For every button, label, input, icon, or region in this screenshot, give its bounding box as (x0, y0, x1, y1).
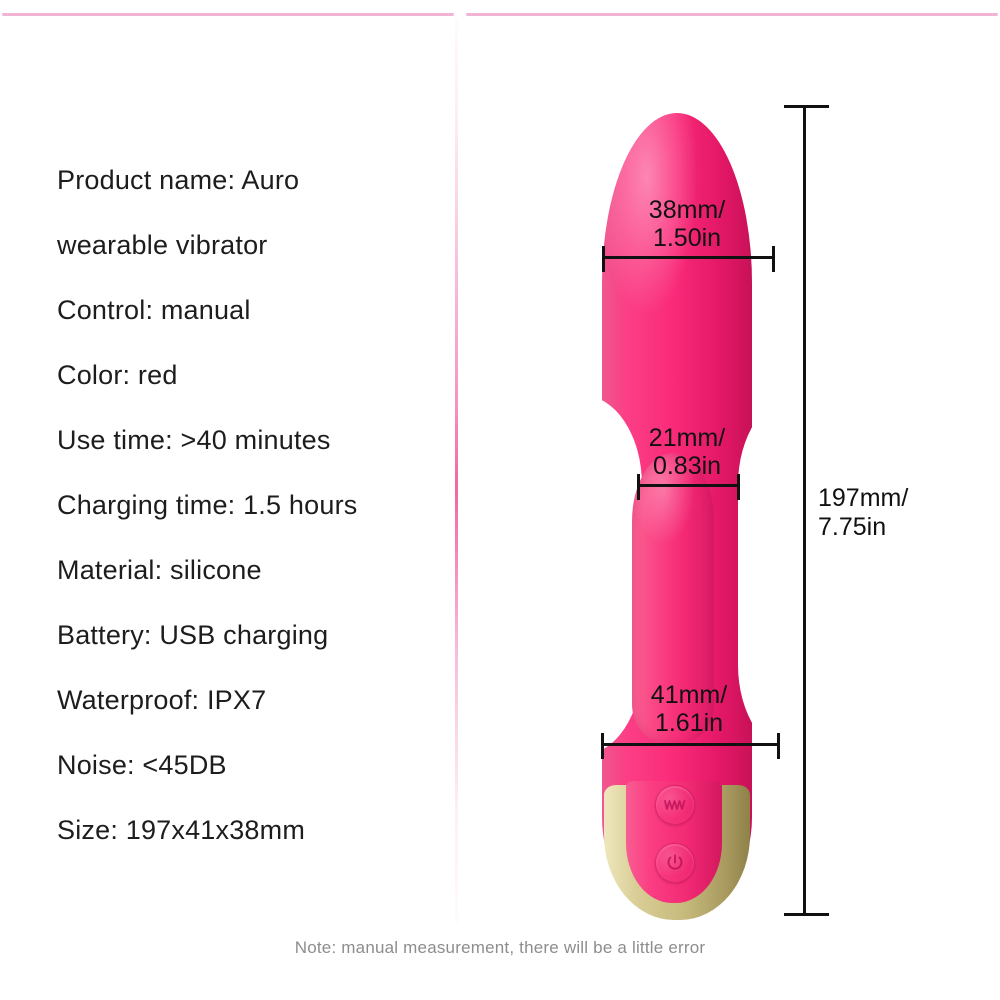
dimension-bar-bottom-width (601, 743, 777, 746)
spec-line-waterproof: Waterproof: IPX7 (57, 668, 447, 733)
spec-list: Product name: Auro wearable vibrator Con… (57, 148, 447, 863)
top-rule-left (2, 13, 454, 16)
top-width-in: 1.50in (653, 224, 721, 252)
product-spec-image: Product name: Auro wearable vibrator Con… (0, 0, 1000, 1000)
dimension-label-top-width: 38mm/ 1.50in (602, 196, 772, 252)
spec-line-charging-time: Charging time: 1.5 hours (57, 473, 447, 538)
height-in: 7.75in (818, 513, 886, 541)
dimension-label-height: 197mm/ 7.75in (818, 484, 908, 542)
vertical-divider (455, 18, 458, 923)
spec-line-battery: Battery: USB charging (57, 603, 447, 668)
dimension-label-mid-width: 21mm/ 0.83in (617, 424, 757, 480)
dimension-bar-top-width (602, 256, 772, 259)
spec-line-control: Control: manual (57, 278, 447, 343)
spec-line-noise: Noise: <45DB (57, 733, 447, 798)
wave-icon (664, 798, 686, 812)
spec-line-color: Color: red (57, 343, 447, 408)
spec-line-size: Size: 197x41x38mm (57, 798, 447, 863)
spec-line-use-time: Use time: >40 minutes (57, 408, 447, 473)
vibration-mode-button[interactable] (655, 785, 695, 825)
spec-line-product-name-cont: wearable vibrator (57, 213, 447, 278)
height-mm: 197mm/ (818, 484, 908, 512)
bottom-width-in: 1.61in (655, 709, 723, 737)
top-rule-right (466, 13, 998, 16)
mid-width-in: 0.83in (653, 452, 721, 480)
dimension-label-bottom-width: 41mm/ 1.61in (601, 681, 777, 737)
dimension-bar-mid-width (637, 484, 737, 487)
bottom-width-mm: 41mm/ (651, 681, 727, 709)
mid-width-mm: 21mm/ (649, 424, 725, 452)
top-width-mm: 38mm/ (649, 196, 725, 224)
dimension-line-height (803, 105, 806, 913)
spec-line-material: Material: silicone (57, 538, 447, 603)
power-icon (665, 853, 685, 873)
power-button[interactable] (655, 843, 695, 883)
footer-note: Note: manual measurement, there will be … (0, 938, 1000, 958)
spec-line-product-name: Product name: Auro (57, 148, 447, 213)
